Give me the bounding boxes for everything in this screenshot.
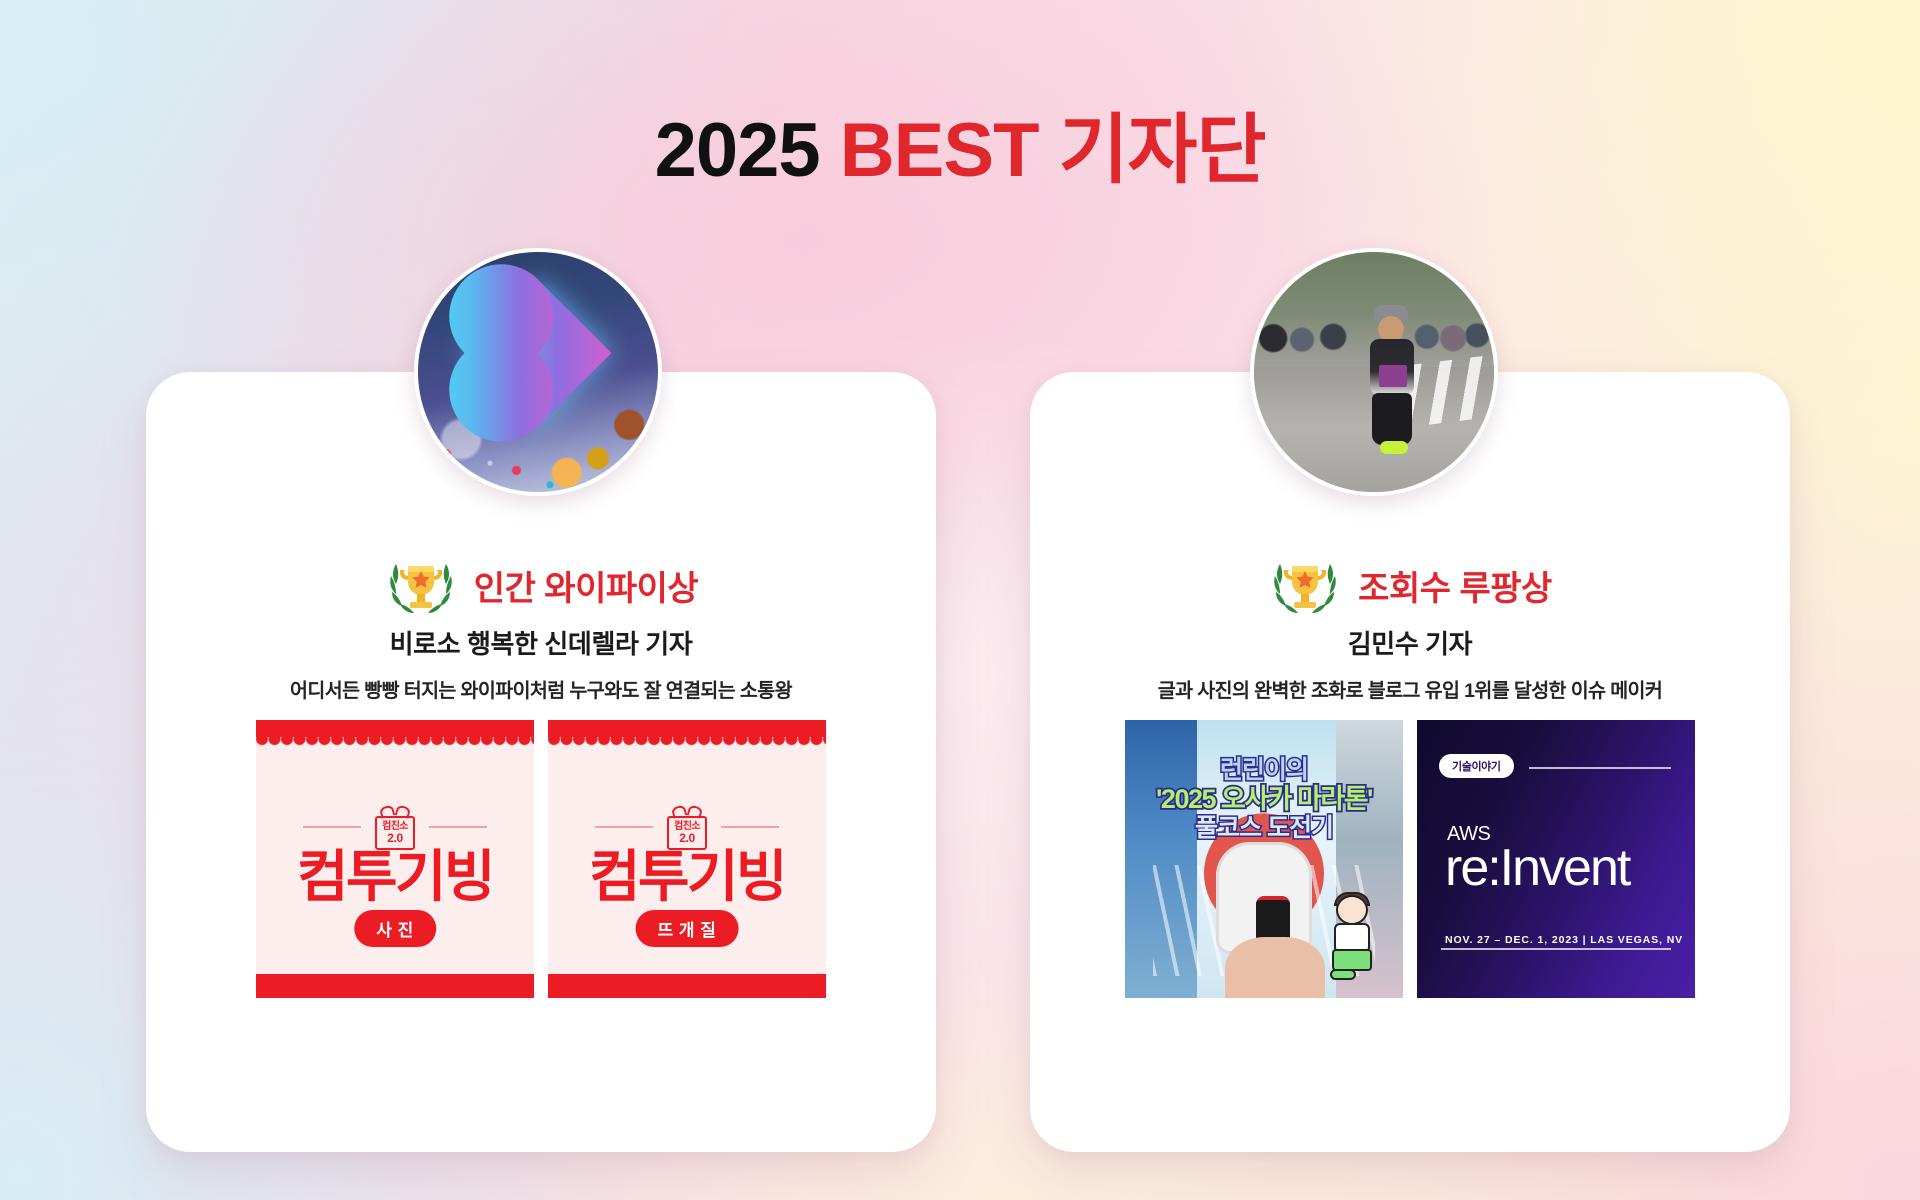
runner-mascot-sticker [1322, 895, 1386, 981]
thumbnail-list-right: 런린이의 '2025 오사카 마라톤' 풀코스 도전기 기술이야기 AWS re… [1030, 720, 1790, 998]
poster-category-pill: 사 진 [354, 910, 436, 947]
title-year: 2025 [655, 108, 820, 193]
poster-top-bar [548, 720, 826, 737]
marathon-runner-photo [1254, 252, 1494, 492]
thumbnail-aws-reinvent[interactable]: 기술이야기 AWS re:Invent NOV. 27 – DEC. 1, 20… [1417, 720, 1695, 998]
aws-reinvent-logo: AWS re:Invent [1445, 824, 1629, 893]
poster-category-pill: 뜨 개 질 [636, 910, 739, 947]
poster-bottom-bar [548, 974, 826, 998]
title-korean: 기자단 [1059, 108, 1266, 193]
poster-wordmark: 컴투기빙 [256, 832, 534, 913]
poster-rule-left [303, 826, 361, 828]
title-best: BEST [840, 108, 1039, 193]
poster-rule-right [721, 826, 779, 828]
poster-top-bar [256, 720, 534, 737]
tech-story-badge: 기술이야기 [1439, 754, 1514, 778]
event-dates-location: NOV. 27 – DEC. 1, 2023 | LAS VEGAS, NV [1445, 934, 1683, 946]
reporter-description: 글과 사진의 완벽한 조화로 블로그 유입 1위를 달성한 이슈 메이커 [1030, 674, 1790, 703]
poster-scallop-trim [548, 737, 826, 754]
award-header-left: 인간 와이파이상 [146, 554, 936, 616]
divider-top [1529, 767, 1671, 769]
award-header-right: 조회수 루팡상 [1030, 554, 1790, 616]
reinvent-wordmark: re:Invent [1445, 844, 1629, 893]
thumbnail-list-left: 컴친소 2.0 컴투기빙 사 진 [146, 720, 936, 998]
poster-rule-right [429, 826, 487, 828]
marathon-title-block: 런린이의 '2025 오사카 마라톤' 풀코스 도전기 [1125, 756, 1403, 842]
poster-scallop-trim [256, 737, 534, 754]
marathon-title-line1: 런린이의 [1125, 756, 1403, 784]
award-title: 인간 와이파이상 [474, 561, 698, 610]
avatar-left[interactable] [414, 248, 662, 496]
marathon-title-line2: '2025 오사카 마라톤' [1125, 784, 1403, 814]
hand-graphic [1225, 937, 1325, 998]
trophy-laurel-icon [1268, 554, 1342, 616]
poster-bottom-bar [256, 974, 534, 998]
thumbnail-osaka-marathon[interactable]: 런린이의 '2025 오사카 마라톤' 풀코스 도전기 [1125, 720, 1403, 998]
page-title: 2025 BEST 기자단 [0, 88, 1920, 198]
avatar-right[interactable] [1250, 248, 1498, 496]
reporter-name: 김민수 기자 [1030, 624, 1790, 661]
poster-rule-left [595, 826, 653, 828]
trophy-laurel-icon [384, 554, 458, 616]
reporter-name: 비로소 행복한 신데렐라 기자 [146, 624, 936, 661]
reporter-description: 어디서든 빵빵 터지는 와이파이처럼 누구와도 잘 연결되는 소통왕 [146, 674, 936, 703]
divider-bottom [1441, 948, 1671, 950]
poster-wordmark: 컴투기빙 [548, 832, 826, 913]
award-title: 조회수 루팡상 [1358, 561, 1552, 610]
thumbnail-comtou-giving-knitting[interactable]: 컴친소 2.0 컴투기빙 뜨 개 질 [548, 720, 826, 998]
marathon-title-line3: 풀코스 도전기 [1125, 814, 1403, 842]
crystal-heart-photo [418, 252, 658, 492]
thumbnail-comtou-giving-photo[interactable]: 컴친소 2.0 컴투기빙 사 진 [256, 720, 534, 998]
